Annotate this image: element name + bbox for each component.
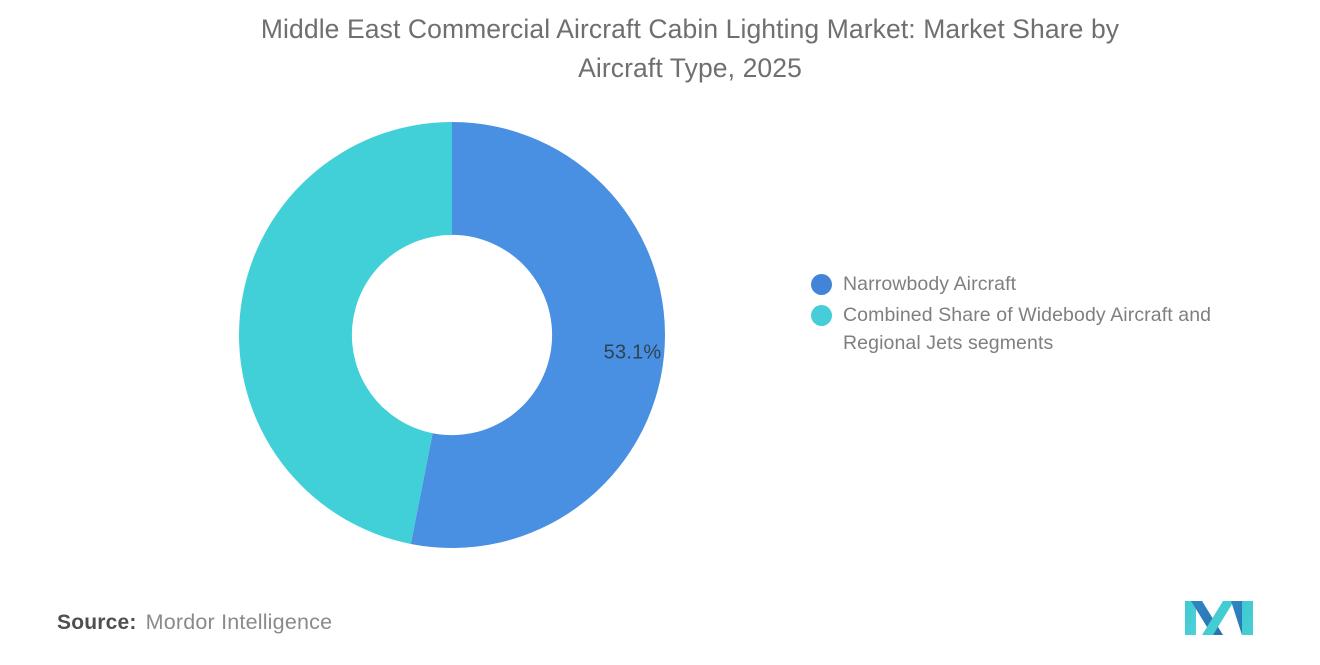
chart-legend: Narrowbody Aircraft Combined Share of Wi… [811, 270, 1281, 360]
legend-swatch-icon-narrowbody [811, 274, 832, 295]
mi-monogram-icon [1183, 598, 1255, 638]
source-label: Source: [57, 611, 137, 635]
source-value: Mordor Intelligence [146, 610, 333, 635]
chart-title-line-1: Middle East Commercial Aircraft Cabin Li… [170, 10, 1210, 49]
donut-slice-1[interactable] [239, 122, 452, 544]
source-line: Source: Mordor Intelligence [57, 610, 332, 635]
chart-title-line-2: Aircraft Type, 2025 [170, 49, 1210, 88]
donut-chart: 53.1% [239, 122, 665, 548]
chart-canvas: Middle East Commercial Aircraft Cabin Li… [0, 0, 1320, 665]
legend-item-widebody-regional[interactable]: Combined Share of Widebody Aircraft and … [811, 301, 1281, 357]
legend-label-widebody-regional: Combined Share of Widebody Aircraft and … [843, 301, 1281, 357]
legend-label-narrowbody: Narrowbody Aircraft [843, 270, 1016, 298]
chart-title: Middle East Commercial Aircraft Cabin Li… [170, 10, 1210, 88]
legend-item-narrowbody[interactable]: Narrowbody Aircraft [811, 270, 1281, 298]
mordor-intelligence-logo [1183, 598, 1255, 638]
donut-svg [239, 122, 665, 548]
legend-swatch-icon-widebody-regional [811, 305, 832, 326]
